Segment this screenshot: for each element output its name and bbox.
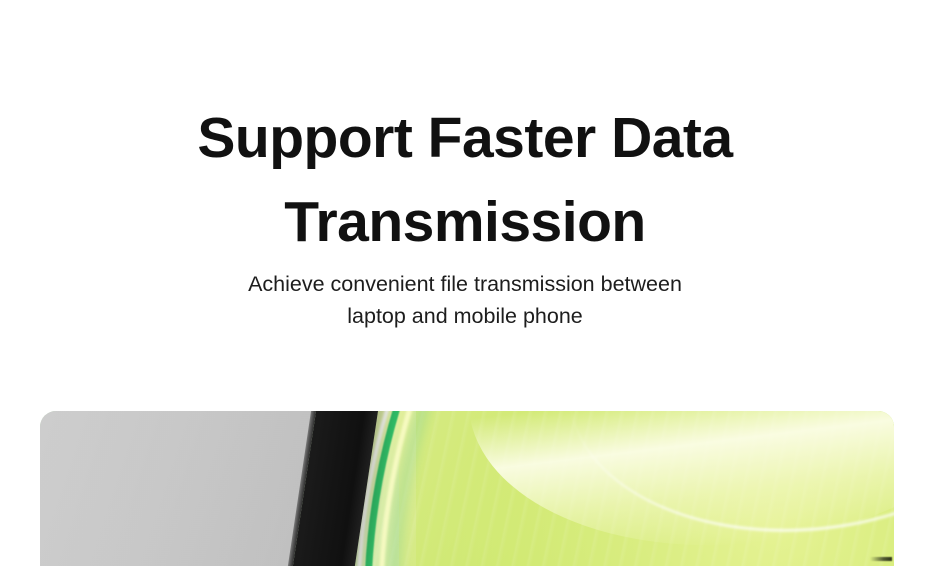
laptop-body-texture xyxy=(40,411,320,566)
hero-product-image xyxy=(40,411,894,566)
wallpaper-arc-highlight-inner xyxy=(327,411,860,566)
bottom-right-edge-sliver xyxy=(870,557,892,561)
page-title: Support Faster Data Transmission xyxy=(0,96,930,264)
page-subtitle: Achieve convenient file transmission bet… xyxy=(0,268,930,332)
laptop-body xyxy=(40,411,320,566)
promo-page: Support Faster Data Transmission Achieve… xyxy=(0,0,930,566)
